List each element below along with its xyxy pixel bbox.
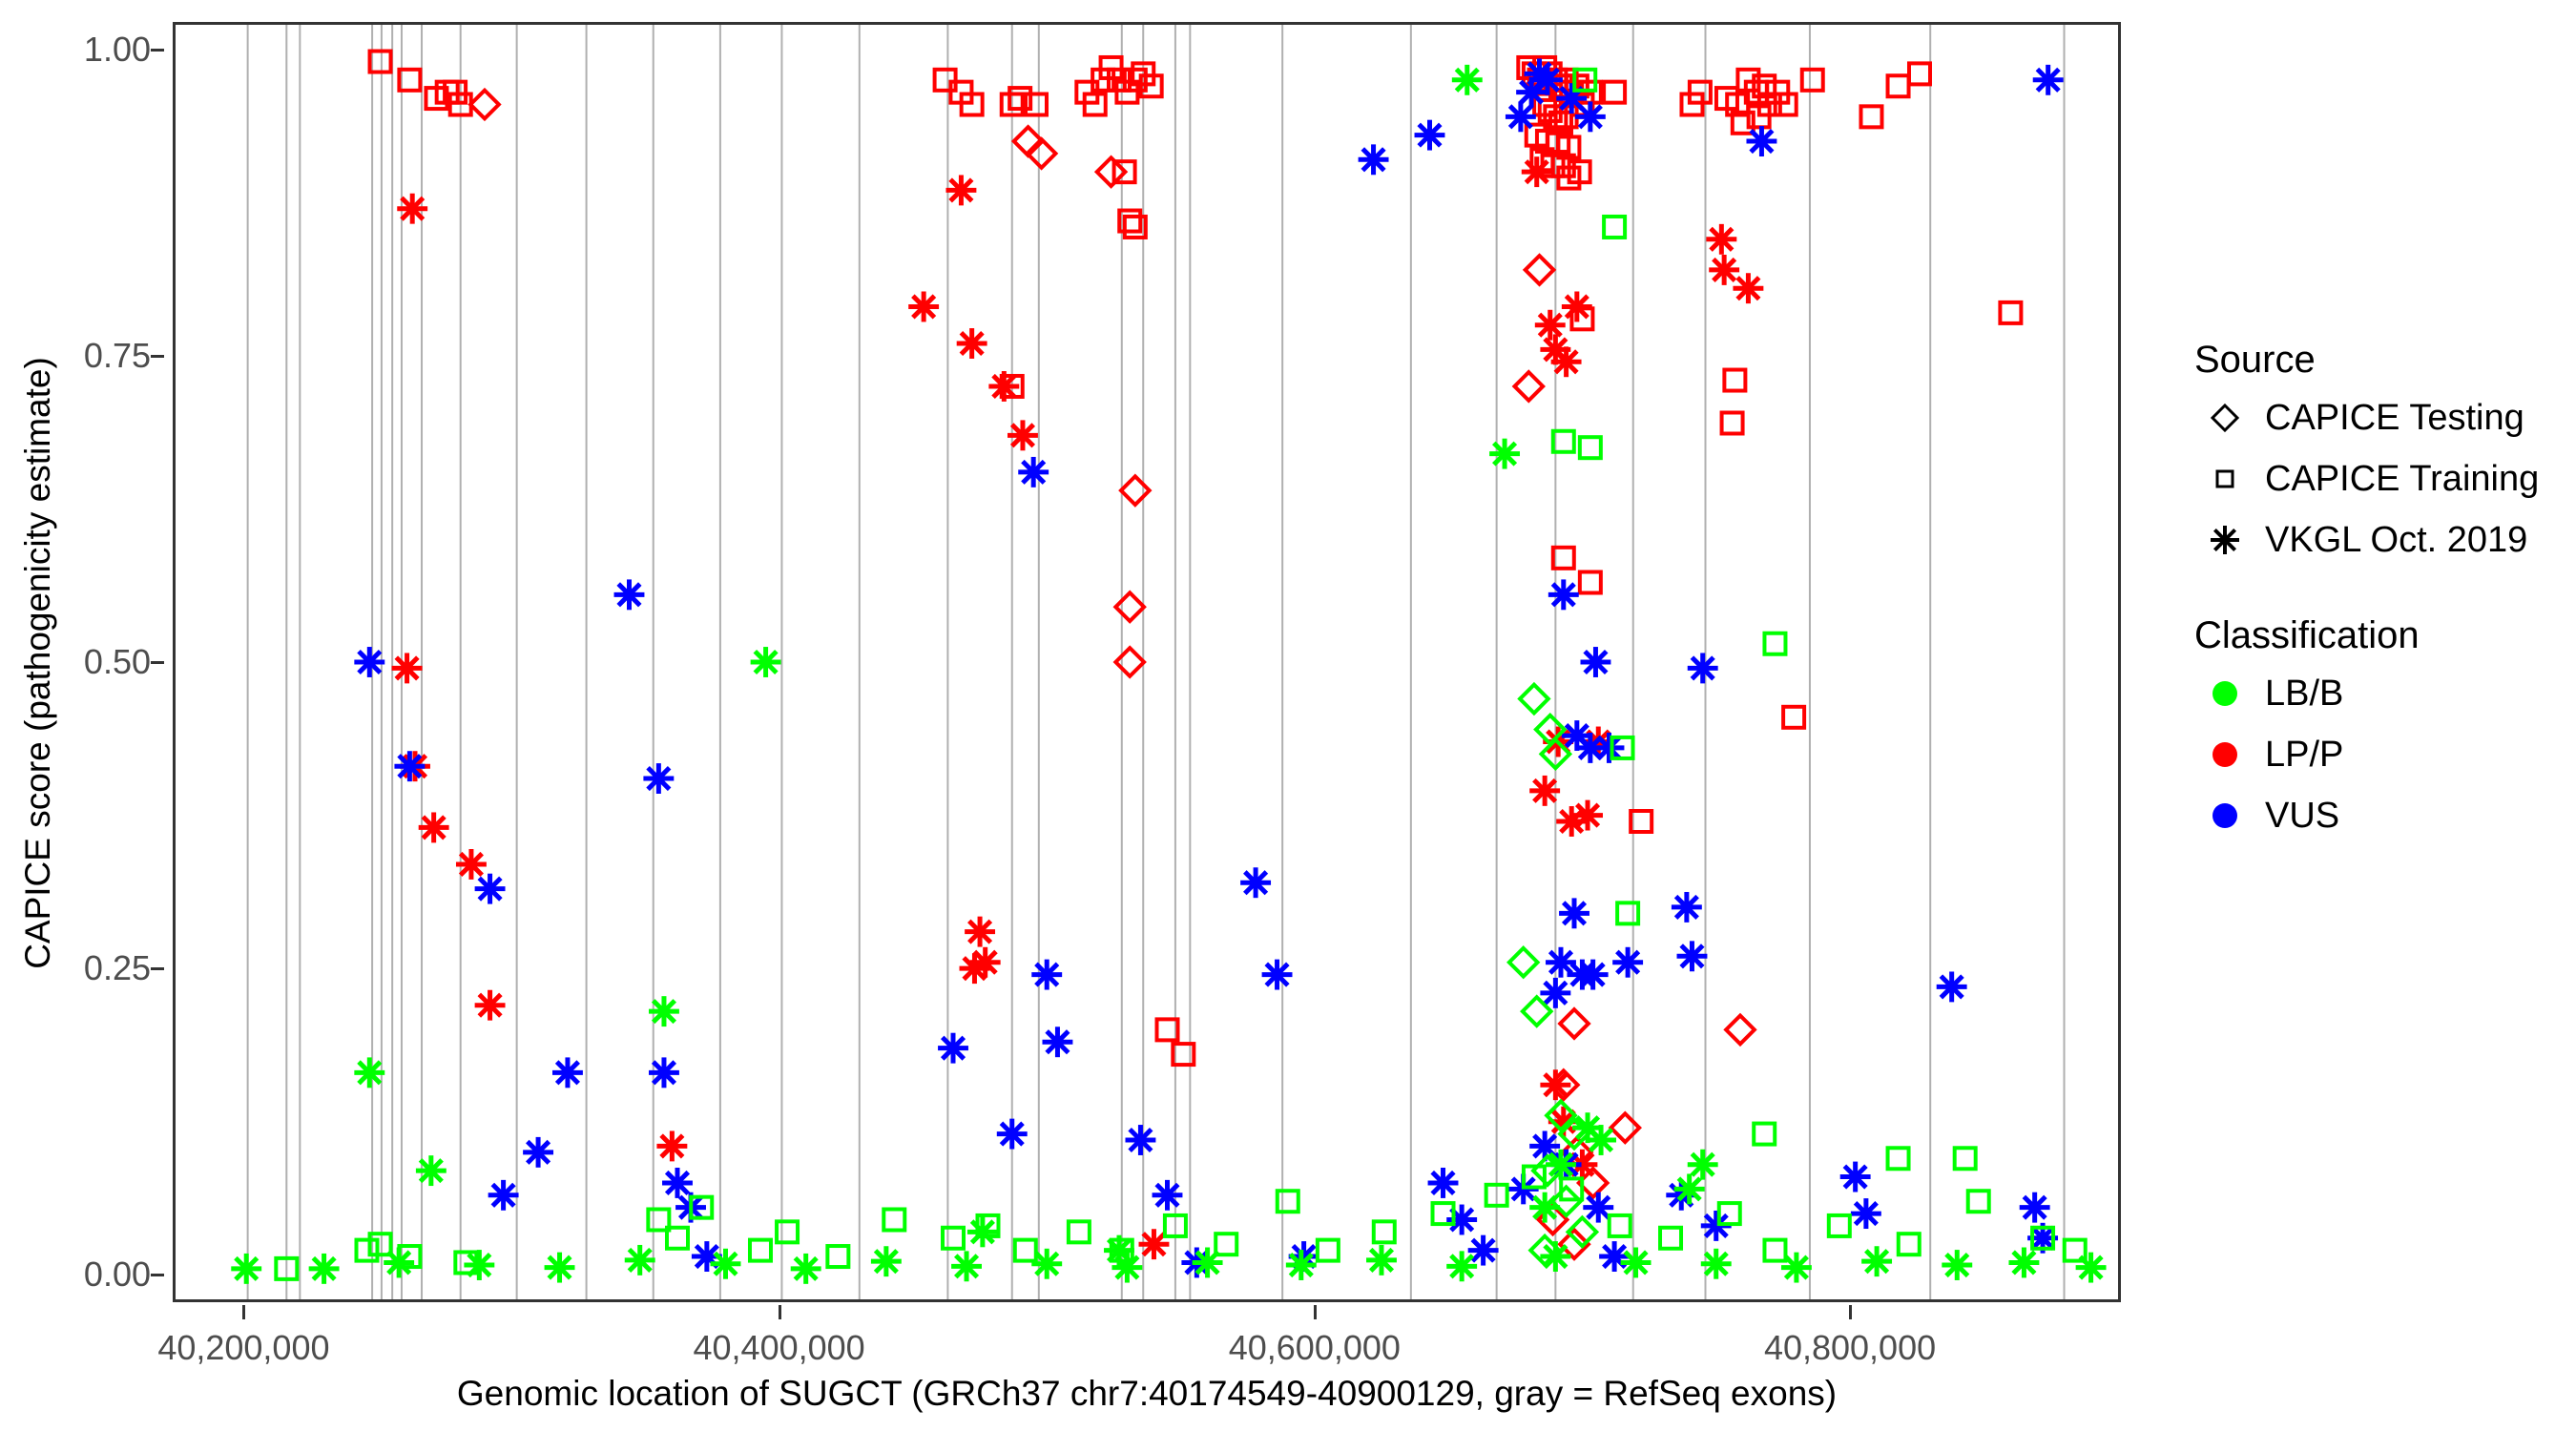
data-point [384,1248,414,1278]
data-point [470,91,499,119]
data-point [1286,1250,1317,1280]
data-point [1318,1240,1339,1261]
circle-marker-icon [2194,785,2255,846]
data-point [456,849,487,880]
data-point [464,1250,494,1280]
x-axis-title: Genomic location of SUGCT (GRCh37 chr7:4… [173,1374,2121,1414]
data-point [970,947,1001,978]
data-point [309,1254,340,1284]
data-point [475,990,506,1021]
legend-item[interactable]: CAPICE Training [2194,448,2566,509]
data-point [1262,960,1293,990]
data-point [1509,948,1538,977]
data-point [419,812,449,842]
x-tick-label: 40,200,000 [157,1328,329,1368]
data-point [1428,1168,1459,1198]
data-point [1851,1198,1881,1229]
y-tick-mark [151,355,164,358]
data-point [1031,960,1062,990]
data-point [1581,647,1611,677]
data-point [1861,1246,1892,1276]
square-marker-icon [2194,448,2255,509]
data-point [231,1254,261,1284]
data-point [1909,63,1930,84]
data-point [1489,439,1520,469]
data-points-layer [231,52,2106,1284]
x-tick-label: 40,800,000 [1764,1328,1936,1368]
data-point [475,874,506,904]
y-axis-ticks: 0.000.250.500.751.00 [0,0,151,1431]
data-point [1688,1150,1718,1180]
y-tick-mark [151,1274,164,1276]
series-asterisk-VUS [354,58,2063,1277]
x-tick-mark [779,1305,781,1319]
legend-item[interactable]: LB/B [2194,663,2566,724]
y-tick-mark [151,661,164,664]
data-point [1042,1027,1072,1057]
data-point [1612,947,1643,978]
data-point [1153,1180,1183,1211]
data-point [416,1155,447,1186]
data-point [662,1168,693,1198]
data-point [1115,592,1144,621]
data-point [1888,75,1909,96]
data-point [827,1246,848,1267]
data-point [1621,1248,1652,1278]
data-point [1520,685,1548,714]
data-point [938,1033,968,1064]
data-point [397,194,427,224]
data-point [1540,1069,1570,1100]
data-point [1722,413,1743,434]
data-point [1674,1173,1705,1204]
data-point [1522,156,1552,187]
data-point [2000,302,2021,323]
data-point [1572,800,1603,831]
data-point [951,1251,982,1281]
data-point [354,647,384,677]
y-tick-label: 1.00 [84,30,151,70]
x-tick-mark [242,1305,245,1319]
data-point [1111,1253,1142,1283]
y-tick-label: 0.00 [84,1255,151,1295]
data-point [1860,106,1881,127]
legend-item[interactable]: LP/P [2194,724,2566,785]
series-asterisk-LP-P [392,156,1764,1259]
data-point [1783,707,1804,728]
data-point [997,1119,1028,1150]
data-point [2076,1253,2107,1283]
data-point [1599,1241,1630,1272]
data-point [1575,101,1606,132]
data-point [1726,1016,1755,1045]
x-tick-label: 40,400,000 [694,1328,865,1368]
data-point [1942,1250,1972,1280]
circle-marker-icon [2194,724,2255,785]
data-point [1115,648,1144,676]
data-point [649,996,679,1027]
data-point [883,1210,904,1231]
data-point [1562,292,1592,322]
data-point [394,751,425,781]
data-point [1121,476,1150,505]
data-point [1829,1215,1850,1236]
data-point [1415,120,1445,151]
data-point [656,1130,687,1161]
data-point [943,1228,964,1249]
data-point [614,579,645,610]
data-point [965,917,995,947]
data-point [1688,653,1718,683]
data-point [1746,126,1776,156]
asterisk-marker-icon [2194,509,2255,570]
data-point [643,763,674,794]
series-asterisk-LB-B [231,65,2106,1284]
data-point [1468,1235,1499,1266]
source-legend: SourceCAPICE TestingCAPICE TrainingVKGL … [2194,339,2566,570]
data-point [1008,420,1038,450]
exon-lines-layer [248,25,2065,1299]
y-tick-label: 0.50 [84,642,151,682]
data-point [354,1057,384,1088]
data-point [1764,1240,1785,1261]
data-point [1672,892,1702,923]
data-point [1446,1251,1477,1281]
legend-item[interactable]: VUS [2194,785,2566,846]
data-point [1610,1215,1631,1236]
data-point [1018,457,1049,487]
data-point [1660,1228,1681,1249]
data-point [1529,776,1560,806]
data-point [1559,898,1589,928]
series-square-LP-P [370,52,2022,1066]
chart-legend: SourceCAPICE TestingCAPICE TrainingVKGL … [2194,339,2566,890]
data-point [1015,1240,1036,1261]
data-point [711,1249,741,1279]
data-point [1374,1221,1395,1242]
data-point [967,1216,998,1247]
data-point [2020,1192,2050,1223]
data-point [1278,1191,1298,1212]
scatter-plot-canvas [176,25,2118,1299]
data-point [871,1246,902,1276]
data-point [552,1057,583,1088]
data-point [1701,1249,1732,1279]
data-point [1540,1241,1570,1272]
data-point [908,292,939,322]
data-point [1193,1248,1223,1278]
data-point [1968,1191,1989,1212]
legend-item[interactable]: CAPICE Testing [2194,387,2566,448]
data-point [1724,370,1745,391]
data-point [1955,1148,1976,1169]
data-point [1888,1148,1909,1169]
plot-panel [173,22,2121,1302]
data-point [392,653,423,683]
y-tick-mark [151,967,164,970]
data-point [1604,82,1625,103]
data-point [1560,1009,1589,1038]
data-point [1754,1124,1775,1145]
data-point [1578,960,1609,990]
data-point [1677,941,1708,971]
data-point [2033,65,2064,95]
legend-item-label: VKGL Oct. 2019 [2265,520,2527,561]
data-point [1506,101,1536,132]
data-point [1546,1150,1576,1180]
data-point [1031,1249,1062,1279]
classification-legend: ClassificationLB/BLP/PVUS [2194,614,2566,846]
data-point [1764,633,1785,654]
data-point [1706,224,1736,255]
data-point [1586,1125,1616,1155]
legend-item-label: CAPICE Testing [2265,398,2524,439]
data-point [1452,65,1483,95]
circle-marker-icon [2194,663,2255,724]
data-point [945,175,976,205]
data-point [1240,867,1271,898]
legend-title: Source [2194,339,2566,382]
legend-title: Classification [2194,614,2566,657]
legend-item[interactable]: VKGL Oct. 2019 [2194,509,2566,570]
data-point [1604,217,1625,238]
data-point [356,1240,377,1261]
chart-root: CAPICE score (pathogenicity estimate) 0.… [0,0,2576,1431]
data-point [1733,273,1763,303]
y-tick-mark [151,49,164,52]
x-tick-mark [1314,1305,1317,1319]
data-point [988,371,1019,402]
data-point [488,1180,519,1211]
data-point [1548,579,1579,610]
data-point [750,1240,771,1261]
data-point [1529,1192,1560,1223]
data-point [1802,70,1823,91]
data-point [1514,372,1543,401]
data-point [545,1253,575,1283]
data-point [1125,1125,1155,1155]
series-square-LB-B [276,70,2085,1279]
data-point [1535,310,1566,341]
data-point [649,1057,679,1088]
data-point [1937,971,1967,1002]
legend-item-label: VUS [2265,796,2339,837]
data-point [2008,1248,2039,1278]
data-point [1781,1253,1812,1283]
data-point [1899,1234,1920,1255]
data-point [1580,437,1601,458]
data-point [1359,144,1389,175]
legend-item-label: LB/B [2265,674,2343,715]
diamond-marker-icon [2194,387,2255,448]
x-tick-mark [1849,1305,1852,1319]
data-point [1366,1245,1397,1275]
data-point [1709,255,1739,285]
data-point [523,1137,553,1168]
data-point [1446,1205,1477,1235]
data-point [791,1254,821,1284]
data-point [751,647,781,677]
data-point [777,1221,798,1242]
x-tick-label: 40,600,000 [1229,1328,1401,1368]
data-point [1526,256,1554,284]
data-point [957,328,987,359]
data-point [1069,1221,1090,1242]
data-point [1617,902,1638,923]
y-tick-label: 0.75 [84,336,151,376]
data-point [1215,1234,1236,1255]
legend-item-label: CAPICE Training [2265,459,2539,500]
data-point [1840,1162,1871,1192]
legend-item-label: LP/P [2265,735,2343,776]
data-point [625,1245,655,1275]
data-point [1551,346,1582,377]
y-tick-label: 0.25 [84,948,151,988]
data-point [1580,572,1601,593]
